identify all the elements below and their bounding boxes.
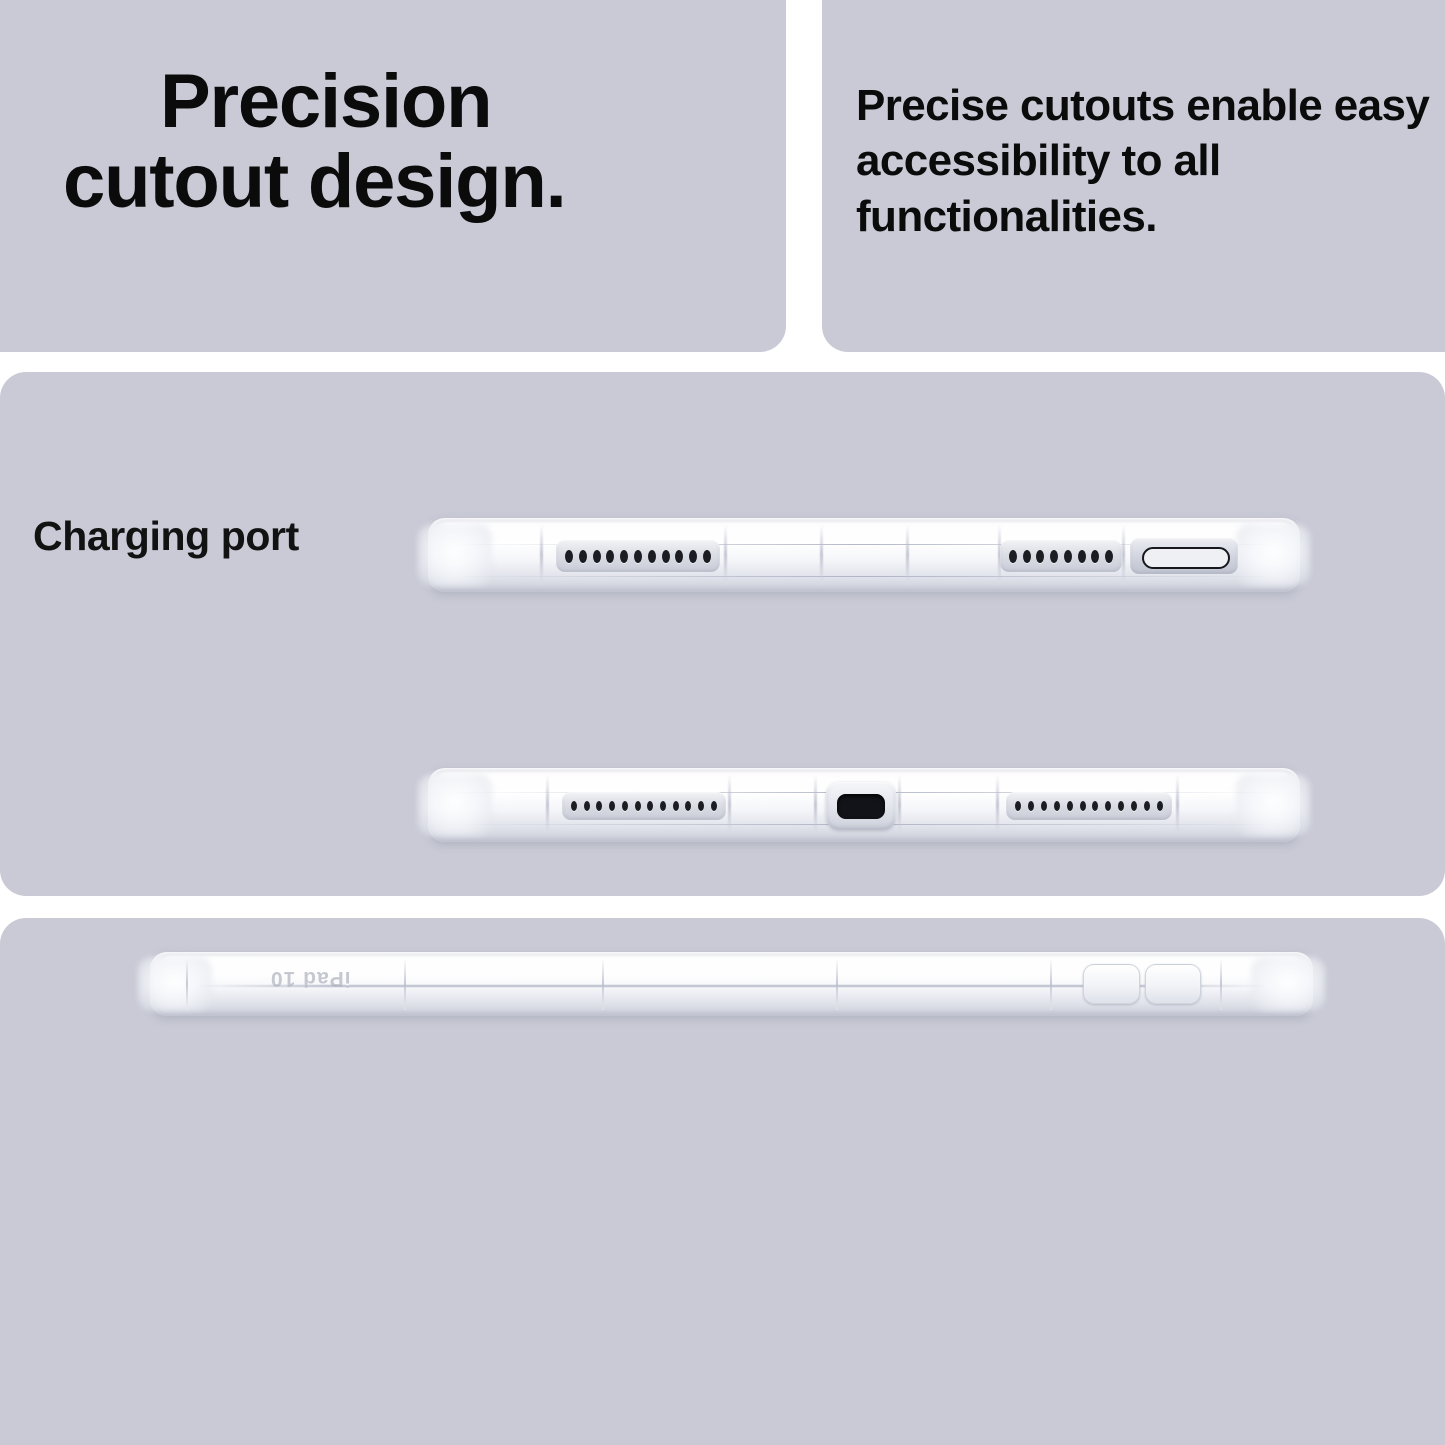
- usb-c-port-boss: [826, 782, 896, 830]
- case-edge-rib: [996, 775, 999, 836]
- case-spine-rib: [186, 958, 188, 1009]
- case-edge-rib: [728, 775, 731, 836]
- page-title: Precision cutout design.: [160, 62, 760, 222]
- speaker-grille-right: [1000, 540, 1122, 572]
- case-corner-left: [418, 774, 492, 836]
- case-side-spine: iPad 10: [150, 952, 1313, 1016]
- description-panel: Precise cutouts enable easy accessibilit…: [822, 0, 1445, 352]
- speaker-grille-right: [1006, 792, 1172, 820]
- case-spine-rib: [836, 958, 838, 1009]
- charging-port-panel: Charging port: [0, 372, 1445, 896]
- product-feature-image: Precision cutout design. Precise cutouts…: [0, 0, 1445, 1445]
- headline-line-1: Precision: [160, 59, 491, 144]
- headline-panel: Precision cutout design.: [0, 0, 786, 352]
- case-edge-bottom-view: [428, 768, 1300, 842]
- case-edge-rib: [724, 525, 727, 586]
- case-spine-rib: [602, 958, 604, 1009]
- case-corner-right: [1236, 774, 1310, 836]
- case-spine-corner-left: [138, 957, 212, 1011]
- case-edge-top-view: [428, 518, 1300, 592]
- case-edge-rib: [546, 775, 549, 836]
- speaker-grille-left: [562, 792, 726, 820]
- charging-port-label: Charging port: [33, 513, 299, 560]
- case-spine-rib: [1220, 958, 1222, 1009]
- case-spine-rib: [404, 958, 406, 1009]
- description-text: Precise cutouts enable easy accessibilit…: [856, 78, 1436, 244]
- case-edge-rib: [898, 775, 901, 836]
- device-back-panel: iPad 10: [0, 918, 1445, 1445]
- case-edge-rib: [1176, 775, 1179, 836]
- volume-up-button[interactable]: [1083, 964, 1140, 1004]
- case-edge-rib: [540, 525, 543, 586]
- usb-c-port-cutout: [837, 794, 885, 819]
- headline-line-2: cutout design.: [63, 142, 760, 222]
- volume-buttons[interactable]: [1083, 964, 1201, 1004]
- case-edge-rib: [1122, 525, 1125, 586]
- case-edge-rib: [820, 525, 823, 586]
- ipad-model-emboss: iPad 10: [270, 966, 351, 990]
- usb-c-port-plate: [1130, 538, 1238, 574]
- case-edge-rib: [906, 525, 909, 586]
- volume-down-button[interactable]: [1145, 964, 1202, 1004]
- case-spine-rib: [1050, 958, 1052, 1009]
- speaker-grille-left: [556, 540, 720, 572]
- case-edge-rib: [814, 775, 817, 836]
- case-spine-corner-right: [1251, 957, 1325, 1011]
- usb-c-port-outline: [1142, 547, 1230, 569]
- case-edge-seam-line: [454, 576, 1274, 577]
